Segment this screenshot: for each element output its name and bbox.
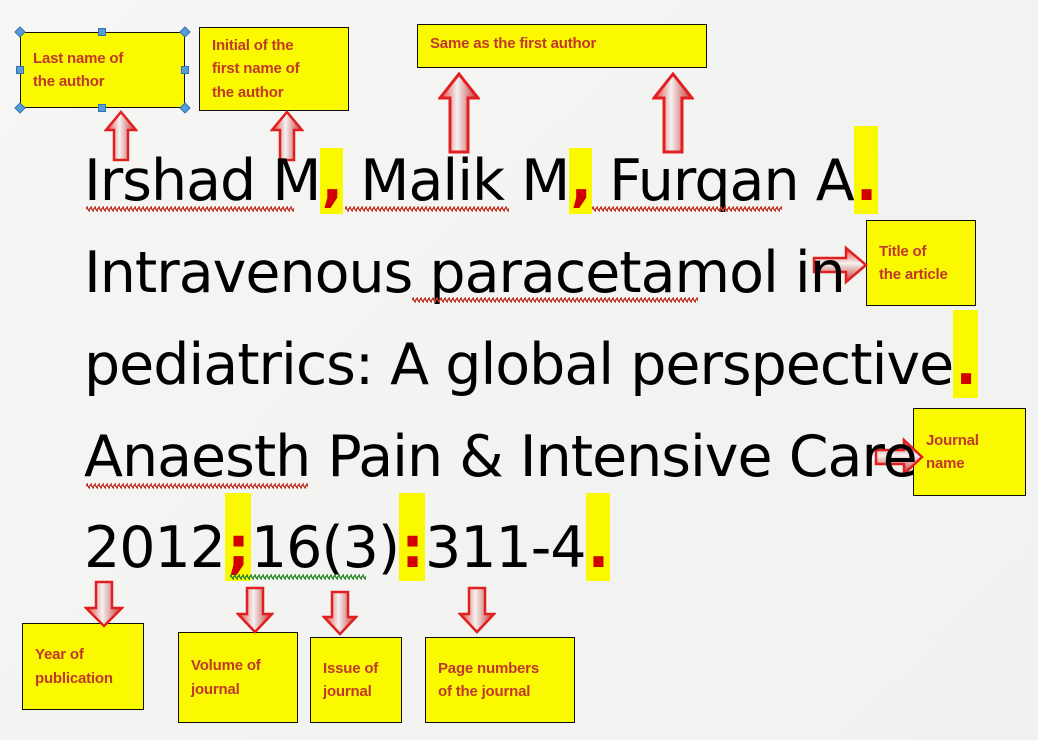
- citation-line-5-seg-0: 2012: [84, 515, 225, 581]
- citation-line-3: pediatrics: A global perspective.: [84, 332, 978, 398]
- selection-handle-top-center[interactable]: [98, 28, 106, 36]
- callout-volume-of-journal-label: Volume of journal: [191, 654, 285, 701]
- arrow-down-page-numbers: [458, 586, 496, 634]
- citation-line-5-seg-4: 311-4: [425, 515, 586, 581]
- grammar-underline-volume-issue: [230, 574, 366, 580]
- citation-line-5-semicolon: ;: [225, 515, 251, 581]
- citation-line-1-comma-2: ,: [569, 148, 592, 214]
- callout-year-of-publication[interactable]: Year of publication: [22, 623, 144, 710]
- callout-journal-name[interactable]: Journal name: [913, 408, 1026, 496]
- spellcheck-underline-irshad: [86, 206, 294, 212]
- callout-title-of-article[interactable]: Title of the article: [866, 220, 976, 306]
- citation-line-1-seg-4: Furqan A: [592, 148, 854, 214]
- callout-same-as-first-author[interactable]: Same as the first author: [417, 24, 707, 68]
- spellcheck-underline-paracetamol: [412, 297, 698, 303]
- arrow-down-year-of-publication: [84, 580, 124, 628]
- spellcheck-underline-malik: [345, 206, 509, 212]
- citation-line-1-seg-2: Malik M: [343, 148, 569, 214]
- spellcheck-underline-furqan: [592, 206, 782, 212]
- callout-initial-first-name-label: Initial of the first name of the author: [212, 34, 336, 104]
- callout-last-name-label: Last name of the author: [33, 47, 172, 94]
- callout-same-as-first-author-label: Same as the first author: [430, 32, 694, 55]
- citation-line-4: Anaesth Pain & Intensive Care: [84, 424, 917, 490]
- citation-line-3-period: .: [953, 332, 978, 398]
- arrow-down-volume-of-journal: [236, 586, 274, 634]
- citation-line-3-seg-0: pediatrics: A global perspective: [84, 332, 953, 398]
- citation-line-5-seg-2: 16(3): [251, 515, 399, 581]
- selection-handle-middle-left[interactable]: [16, 66, 24, 74]
- callout-volume-of-journal[interactable]: Volume of journal: [178, 632, 298, 723]
- citation-line-1-seg-0: Irshad M: [84, 148, 320, 214]
- citation-line-1-comma-1: ,: [320, 148, 343, 214]
- citation-line-4-seg-0: Anaesth Pain & Intensive Care: [84, 424, 917, 490]
- callout-title-of-article-label: Title of the article: [879, 240, 963, 287]
- citation-line-5-period: .: [586, 515, 611, 581]
- callout-page-numbers[interactable]: Page numbers of the journal: [425, 637, 575, 723]
- callout-last-name[interactable]: Last name of the author: [20, 32, 185, 108]
- citation-line-1-period: .: [854, 148, 879, 214]
- callout-page-numbers-label: Page numbers of the journal: [438, 657, 562, 704]
- selection-handle-middle-right[interactable]: [181, 66, 189, 74]
- callout-journal-name-label: Journal name: [926, 429, 1013, 476]
- citation-line-1: Irshad M, Malik M, Furqan A.: [84, 148, 878, 214]
- callout-year-of-publication-label: Year of publication: [35, 643, 131, 690]
- callout-issue-of-journal-label: Issue of journal: [323, 657, 389, 704]
- spellcheck-underline-anaesth: [86, 483, 308, 489]
- arrow-down-issue-of-journal: [322, 590, 358, 636]
- citation-line-5: 2012;16(3):311-4.: [84, 515, 610, 581]
- callout-issue-of-journal[interactable]: Issue of journal: [310, 637, 402, 723]
- arrow-up-same-author-right: [652, 72, 694, 154]
- arrow-up-same-author-left: [438, 72, 480, 154]
- slide-canvas: Last name of the author Initial of the f…: [0, 0, 1038, 740]
- citation-line-5-colon: :: [399, 515, 425, 581]
- callout-initial-first-name[interactable]: Initial of the first name of the author: [199, 27, 349, 111]
